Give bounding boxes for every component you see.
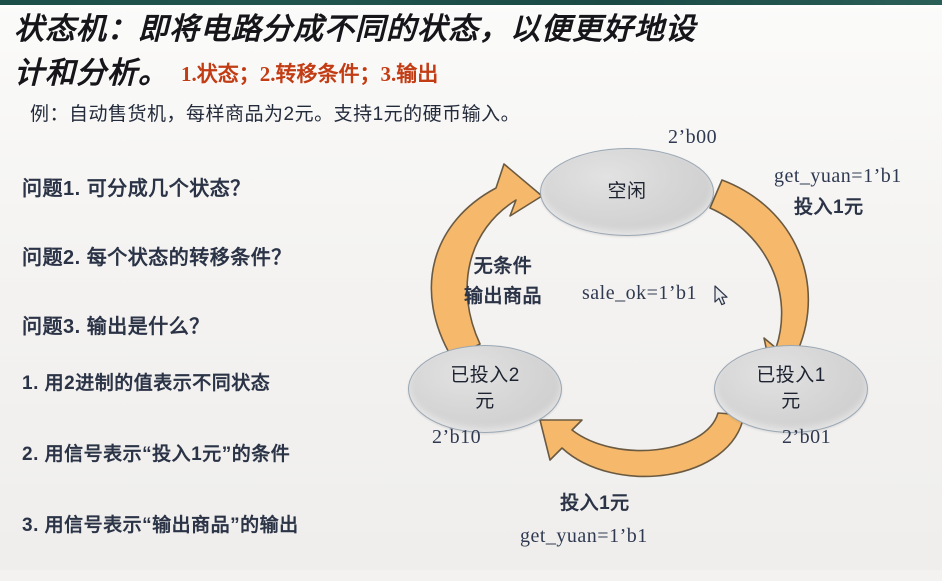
transition-output-two-to-idle: sale_ok=1’b1: [582, 282, 697, 305]
state-node-two-yuan-label: 已投入2 元: [450, 363, 520, 415]
transition-condition-idle-to-one: get_yuan=1’b1: [774, 165, 902, 188]
answer-item-1: 1. 用2进制的值表示不同状态: [22, 368, 422, 395]
headline-line-2: 计和分析。: [14, 57, 169, 90]
example-line: 例：自动售货机，每样商品为2元。支持1元的硬币输入。: [30, 99, 520, 126]
mouse-pointer-icon: [714, 285, 730, 307]
transition-condition-cn-idle-to-one: 投入1元: [794, 192, 902, 219]
headline-line-2-wrap: 计和分析。1.状态；2.转移条件；3.输出: [14, 52, 929, 96]
headline-red-note: 1.状态；2.转移条件；3.输出: [181, 62, 438, 86]
page-title: 状态机：即将电路分成不同的状态，以便更好地设 计和分析。1.状态；2.转移条件；…: [14, 8, 929, 96]
state-node-one-yuan[interactable]: 已投入1 元: [714, 345, 868, 433]
arrow-one-to-two: [540, 413, 744, 476]
transition-label-idle-to-one: get_yuan=1’b1 投入1元: [774, 165, 902, 219]
question-item-1: 问题1. 可分成几个状态？: [22, 172, 422, 201]
transition-label-one-to-two: 投入1元 get_yuan=1’b1: [520, 488, 648, 552]
state-node-idle-label: 空闲: [607, 179, 646, 205]
state-code-one-yuan: 2’b01: [782, 426, 831, 449]
answer-item-2: 2. 用信号表示“投入1元”的条件: [22, 439, 422, 466]
question-item-2: 问题2. 每个状态的转移条件？: [22, 241, 422, 270]
transition-label-two-to-idle: 无条件 输出商品: [464, 252, 542, 312]
answer-list: 1. 用2进制的值表示不同状态 2. 用信号表示“投入1元”的条件 3. 用信号…: [22, 368, 422, 581]
headline-line-1: 状态机：即将电路分成不同的状态，以便更好地设: [14, 13, 696, 46]
state-code-idle: 2’b00: [668, 126, 717, 149]
question-item-3: 问题3. 输出是什么？: [22, 310, 422, 339]
slide-canvas: 状态机：即将电路分成不同的状态，以便更好地设 计和分析。1.状态；2.转移条件；…: [0, 0, 942, 570]
transition-condition-cn-two-to-idle: 无条件: [464, 252, 542, 282]
answer-item-3: 3. 用信号表示“输出商品”的输出: [22, 510, 422, 537]
state-machine-diagram: 空闲 2’b00 已投入2 元 2’b10 已投入1 元 2’b01 get_y…: [392, 130, 938, 560]
transition-condition-cn-one-to-two: 投入1元: [542, 488, 648, 520]
question-list: 问题1. 可分成几个状态？ 问题2. 每个状态的转移条件？ 问题3. 输出是什么…: [22, 172, 422, 379]
state-node-two-yuan[interactable]: 已投入2 元: [408, 345, 562, 433]
transition-condition-one-to-two: get_yuan=1’b1: [520, 520, 648, 552]
state-node-one-yuan-label: 已投入1 元: [756, 363, 826, 415]
transition-output-cn-two-to-idle: 输出商品: [464, 282, 542, 312]
state-code-two-yuan: 2’b10: [432, 426, 481, 449]
state-node-idle[interactable]: 空闲: [540, 148, 714, 236]
